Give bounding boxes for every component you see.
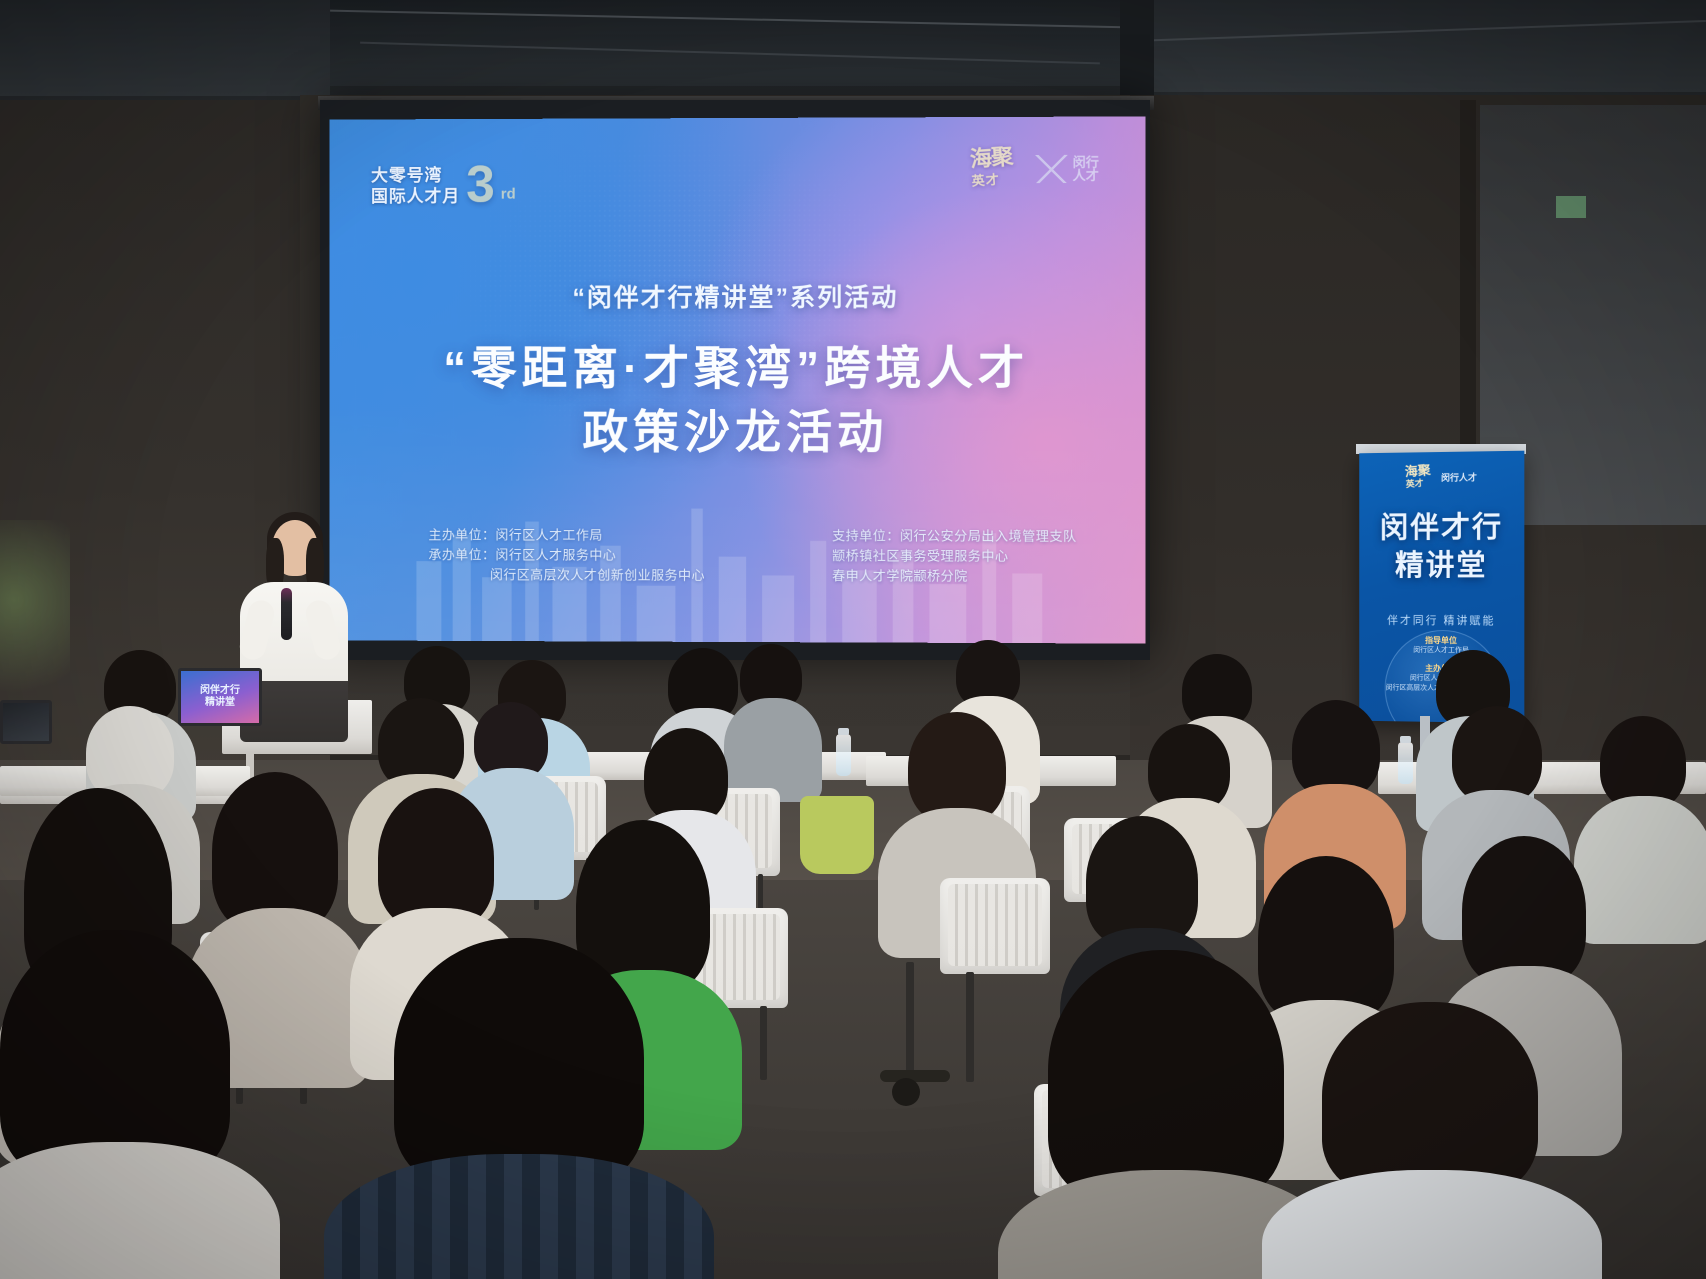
laptop-text-line2: 精讲堂 — [205, 697, 235, 709]
chair-leg-f4 — [760, 1006, 767, 1080]
slide-title-line1: “零距离·才聚湾”跨境人才 — [330, 336, 1146, 400]
laptop-second — [0, 700, 52, 744]
slide-organizers: 主办单位：闵行区人才工作局 承办单位：闵行区人才服务中心 闵行区高层次人才创新创… — [428, 525, 1076, 587]
mountain-icon — [1035, 155, 1067, 183]
organizer-right-0: 支持单位：闵行公安分局出入境管理支队 — [832, 526, 1077, 547]
minhang-line2: 人才 — [1073, 169, 1099, 182]
microphone — [281, 588, 292, 640]
chair-leg-f6 — [966, 972, 974, 1082]
slide-title-line2: 政策沙龙活动 — [330, 400, 1146, 465]
hair — [394, 938, 644, 1188]
banner-title: 闵伴才行 精讲堂 — [1359, 507, 1524, 584]
conference-room-photo: 大零号湾 国际人才月 3 rd 海聚 英才 闵行 人才 “闵伴才行精讲堂”系列活… — [0, 0, 1706, 1279]
laptop-screen: 闵伴才行 精讲堂 — [178, 668, 262, 726]
hair — [1322, 1002, 1538, 1198]
banner-title-line1: 闵伴才行 — [1359, 507, 1524, 546]
hair — [1462, 836, 1586, 986]
body — [724, 698, 822, 802]
organizer-left-2: 闵行区高层次人才创新创业服务中心 — [428, 565, 705, 586]
organizer-right-1: 颛桥镇社区事务受理服务中心 — [832, 546, 1077, 567]
banner-subtitle: 伴才同行 精讲赋能 — [1359, 612, 1524, 629]
wall-left-plant — [0, 520, 70, 720]
exit-sign-box — [1556, 196, 1586, 218]
organizer-left-1: 承办单位：闵行区人才服务中心 — [428, 545, 705, 566]
chair-leg-f5 — [906, 962, 914, 1082]
slide-logo-line2: 国际人才月 — [371, 186, 460, 207]
hair — [1048, 950, 1284, 1202]
banner-title-line2: 精讲堂 — [1359, 546, 1524, 584]
water-bottle-cap-b — [1400, 736, 1411, 743]
chair-wheel-base — [880, 1070, 950, 1082]
slide-logo-line1: 大零号湾 — [371, 165, 460, 186]
slide-main-title: “零距离·才聚湾”跨境人才 政策沙龙活动 — [330, 336, 1146, 465]
water-bottle-a — [836, 734, 851, 776]
hair — [1086, 816, 1198, 946]
haiju-line2: 英才 — [971, 168, 1015, 193]
bag-body — [800, 796, 874, 874]
chair-f3 — [940, 878, 1050, 974]
banner-block-guidance: 指导单位 闵行区人才工作局 — [1359, 636, 1524, 657]
slide-logo-ordinal: rd — [501, 186, 516, 207]
ceiling-panel-left — [0, 0, 330, 96]
slide-logo-number: 3 — [466, 163, 495, 207]
banner-block1-body: 闵行区人才工作局 — [1359, 645, 1524, 656]
banner-logo-group: 海聚 英才 闵行人才 — [1359, 463, 1524, 491]
slide-logo-haiju-yingcai: 海聚 英才 — [969, 146, 1014, 193]
organizer-right-2: 春申人才学院颛桥分院 — [832, 566, 1077, 587]
hair — [1258, 856, 1394, 1022]
slide-logo-group-right: 海聚 英才 闵行 人才 — [971, 147, 1099, 192]
slide-logo-text: 大零号湾 国际人才月 — [371, 165, 460, 207]
chair-slats — [948, 884, 1042, 966]
slide-logo-minhang-rencai: 闵行 人才 — [1035, 155, 1099, 183]
laptop-screen-text: 闵伴才行 精讲堂 — [181, 671, 259, 723]
laptop-text-line1: 闵伴才行 — [200, 685, 240, 697]
body — [1574, 796, 1706, 944]
hair — [378, 788, 494, 928]
haiju-line1: 海聚 — [969, 144, 1013, 172]
banner-logo-haiju: 海聚 英才 — [1404, 463, 1431, 491]
ceiling-panel-right — [1130, 0, 1706, 92]
water-bottle-b — [1398, 742, 1413, 784]
minhang-logo-text: 闵行 人才 — [1073, 156, 1099, 182]
slide-organizers-left: 主办单位：闵行区人才工作局 承办单位：闵行区人才服务中心 闵行区高层次人才创新创… — [428, 525, 705, 586]
banner-haiju-line2: 英才 — [1405, 476, 1432, 491]
water-bottle-cap-a — [838, 728, 849, 735]
banner-logo-minhang: 闵行人才 — [1441, 470, 1477, 483]
organizer-left-0: 主办单位：闵行区人才工作局 — [428, 525, 705, 546]
chair-wheel — [892, 1078, 920, 1106]
slide-logo-dalinghaowan: 大零号湾 国际人才月 3 rd — [371, 163, 516, 207]
slide-series-subtitle: “闵伴才行精讲堂”系列活动 — [330, 277, 1146, 314]
presentation-slide: 大零号湾 国际人才月 3 rd 海聚 英才 闵行 人才 “闵伴才行精讲堂”系列活… — [330, 116, 1146, 643]
slide-organizers-right: 支持单位：闵行公安分局出入境管理支队 颛桥镇社区事务受理服务中心 春申人才学院颛… — [832, 526, 1077, 587]
